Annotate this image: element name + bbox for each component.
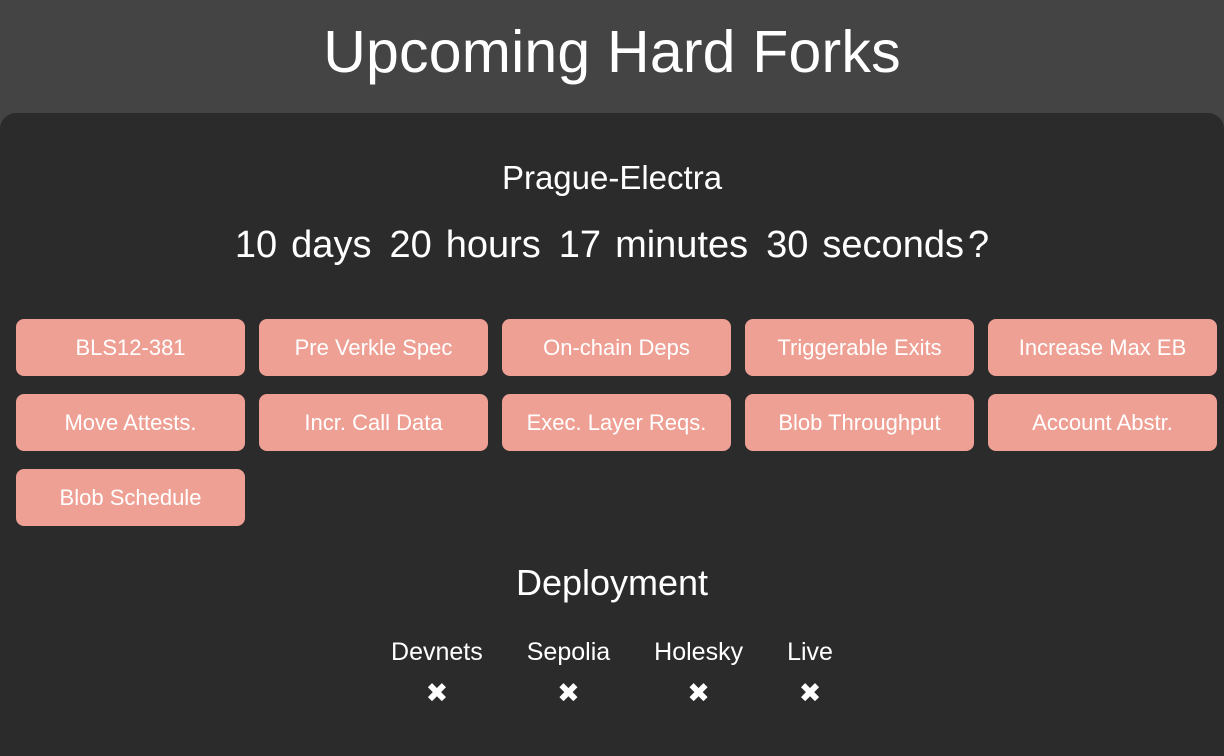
cross-mark-icon: ✖ [557,677,580,709]
page-title: Upcoming Hard Forks [323,23,901,90]
cross-mark-icon: ✖ [687,677,710,709]
feature-tag[interactable]: Incr. Call Data [259,394,488,451]
fork-card: Prague-Electra 10days20hours17minutes30s… [0,113,1224,756]
feature-tag[interactable]: Move Attests. [16,394,245,451]
deployment-column-holesky: Holesky [632,638,765,677]
countdown-minutes-label: minutes [615,224,748,266]
cross-mark-icon: ✖ [799,677,822,709]
countdown-seconds-label: seconds [822,224,964,266]
deployment-column-sepolia: Sepolia [505,638,632,677]
countdown-hours-value: 20 [389,224,431,266]
countdown-suffix: ? [968,224,989,266]
feature-tag[interactable]: BLS12-381 [16,319,245,376]
deployment-status-sepolia: ✖ [505,677,632,709]
feature-tag[interactable]: Blob Schedule [16,469,245,526]
deployment-status-holesky: ✖ [632,677,765,709]
upcoming-hard-forks-page: Upcoming Hard Forks Prague-Electra 10day… [0,0,1224,756]
countdown-days-label: days [291,224,371,266]
deployment-status-devnets: ✖ [369,677,505,709]
deployment-header-row: Devnets Sepolia Holesky Live [369,638,855,677]
cross-mark-icon: ✖ [426,677,449,709]
countdown-days-value: 10 [235,224,277,266]
feature-tag[interactable]: Triggerable Exits [745,319,974,376]
feature-tag[interactable]: Exec. Layer Reqs. [502,394,731,451]
countdown-minutes-value: 17 [559,224,601,266]
feature-tag[interactable]: Pre Verkle Spec [259,319,488,376]
feature-tag-grid: BLS12-381 Pre Verkle Spec On-chain Deps … [16,319,1208,526]
page-header: Upcoming Hard Forks [0,0,1224,113]
deployment-column-live: Live [765,638,855,677]
countdown-timer: 10days20hours17minutes30seconds? [0,196,1224,267]
deployment-column-devnets: Devnets [369,638,505,677]
fork-name: Prague-Electra [0,113,1224,196]
deployment-status-row: ✖ ✖ ✖ ✖ [369,677,855,709]
countdown-seconds-value: 30 [766,224,808,266]
feature-tag[interactable]: Increase Max EB [988,319,1217,376]
deployment-title: Deployment [0,563,1224,603]
feature-tag[interactable]: Account Abstr. [988,394,1217,451]
feature-tag[interactable]: On-chain Deps [502,319,731,376]
deployment-section: Deployment Devnets Sepolia Holesky Live … [0,563,1224,709]
deployment-status-table: Devnets Sepolia Holesky Live ✖ ✖ [369,638,855,709]
countdown-hours-label: hours [446,224,541,266]
feature-tag[interactable]: Blob Throughput [745,394,974,451]
deployment-status-live: ✖ [765,677,855,709]
